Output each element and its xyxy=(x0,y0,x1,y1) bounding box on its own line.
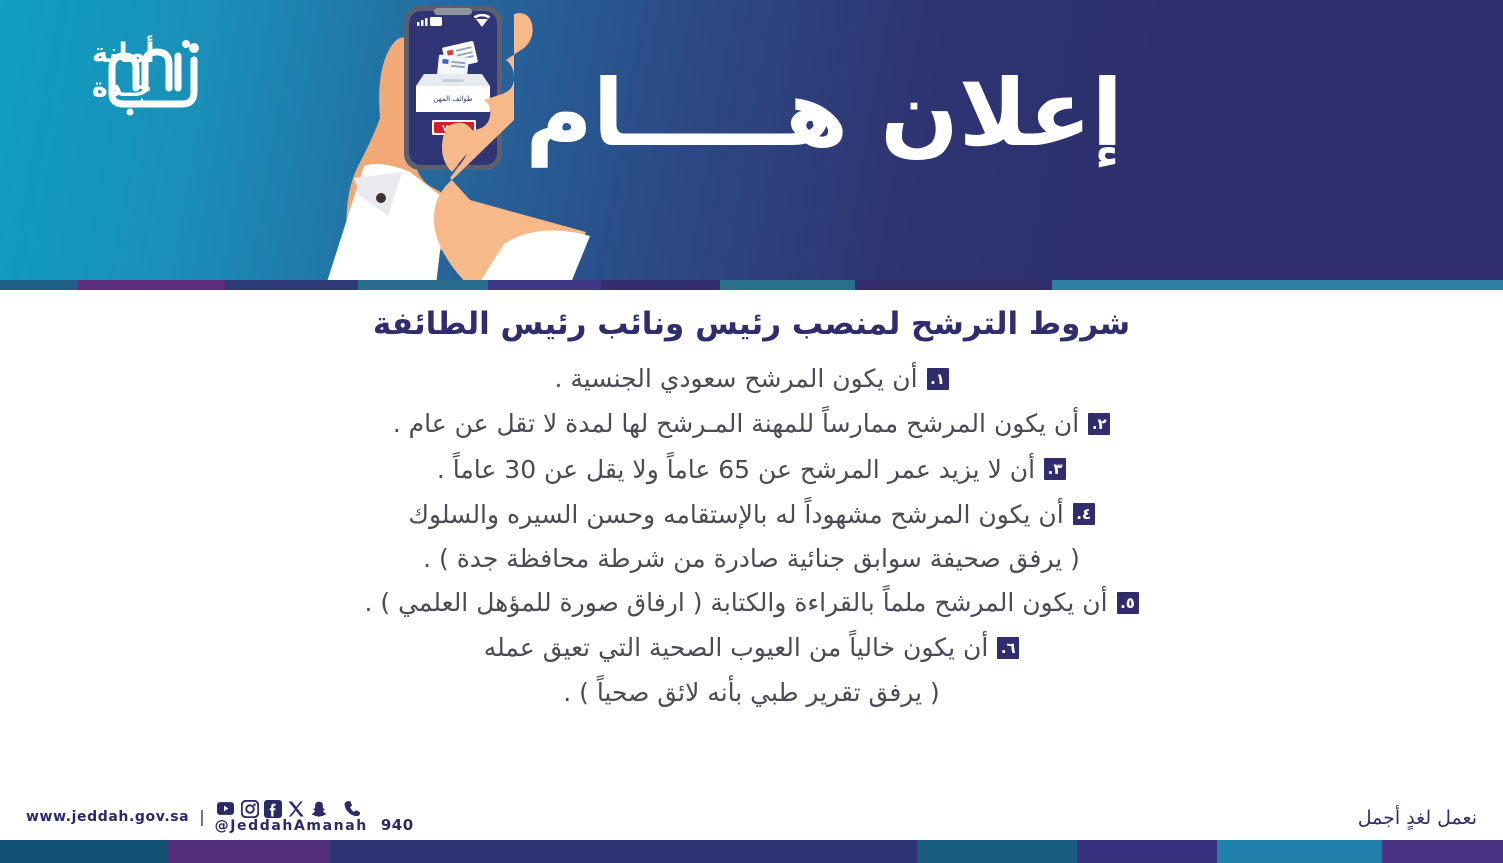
social-media-group: @JeddahAmanah 940 xyxy=(215,799,414,834)
color-strip-segment xyxy=(855,280,1052,290)
color-strip-segment xyxy=(78,280,225,290)
color-strip-segment xyxy=(225,280,358,290)
requirement-text: أن يكون المرشح سعودي الجنسية . xyxy=(554,363,917,394)
color-strip-segment xyxy=(168,840,330,863)
section-title: شروط الترشح لمنصب رئيس ونائب رئيس الطائف… xyxy=(0,306,1503,342)
footer-contact-group: www.jeddah.gov.sa | xyxy=(26,799,414,834)
color-strip-segment xyxy=(1077,840,1217,863)
color-strip-segment xyxy=(330,840,917,863)
social-handle[interactable]: @JeddahAmanah xyxy=(215,818,368,834)
requirement-item: ٣.أن لا يزيد عمر المرشح عن 65 عاماً ولا … xyxy=(0,447,1503,492)
requirement-text: أن يكون المرشح ممارساً للمهنة المـرشح له… xyxy=(393,408,1080,439)
phone-notch xyxy=(434,8,472,15)
color-strip-segment xyxy=(488,280,601,290)
requirement-subtext: ( يرفق تقرير طبي بأنه لائق صحياً ) . xyxy=(0,671,1503,714)
x-twitter-icon[interactable] xyxy=(287,800,305,818)
color-strip-segment xyxy=(0,280,78,290)
logo-label-line2: جـدة xyxy=(92,72,152,103)
requirement-item: ٦.أن يكون خالياً من العيوب الصحية التي ت… xyxy=(0,625,1503,670)
cuff-button xyxy=(376,193,386,203)
facebook-icon[interactable] xyxy=(264,800,282,818)
requirement-number: ٢. xyxy=(1088,413,1110,435)
phone-app-label: طوائف المهن xyxy=(433,95,473,103)
youtube-icon[interactable] xyxy=(215,800,236,817)
requirement-text: أن يكون خالياً من العيوب الصحية التي تعي… xyxy=(484,632,989,663)
requirement-number: ٥. xyxy=(1117,592,1139,614)
decorative-color-strip-top xyxy=(0,280,1503,290)
color-strip-segment xyxy=(601,280,720,290)
decorative-color-strip-bottom xyxy=(0,840,1503,863)
requirement-item: ٢.أن يكون المرشح ممارساً للمهنة المـرشح … xyxy=(0,401,1503,446)
color-strip-segment xyxy=(1382,840,1503,863)
requirement-text: أن يكون المرشح ملماً بالقراءة والكتابة (… xyxy=(364,587,1107,618)
color-strip-segment xyxy=(1052,280,1503,290)
requirements-list: ١.أن يكون المرشح سعودي الجنسية .٢.أن يكو… xyxy=(0,356,1503,714)
requirement-number: ٣. xyxy=(1044,458,1066,480)
instagram-icon[interactable] xyxy=(241,800,259,818)
requirement-item: ١.أن يكون المرشح سعودي الجنسية . xyxy=(0,356,1503,401)
footer-slogan: نعمل لغدٍ أجمل xyxy=(1358,807,1477,829)
requirement-text: أن لا يزيد عمر المرشح عن 65 عاماً ولا يق… xyxy=(437,454,1035,485)
color-strip-segment xyxy=(1217,840,1382,863)
requirement-item: ٤.أن يكون المرشح مشهوداً له بالإستقامه و… xyxy=(0,492,1503,537)
color-strip-segment xyxy=(0,840,168,863)
website-url[interactable]: www.jeddah.gov.sa xyxy=(26,809,189,825)
page-title: إعلان هـــــام xyxy=(525,66,1123,163)
requirement-subtext: ( يرفق صحيفة سوابق جنائية صادرة من شرطة … xyxy=(0,537,1503,580)
announcement-body: شروط الترشح لمنصب رئيس ونائب رئيس الطائف… xyxy=(0,290,1503,795)
logo-label-line1: أمانة xyxy=(92,35,155,69)
color-strip-segment xyxy=(917,840,1077,863)
requirement-number: ١. xyxy=(927,368,949,390)
requirement-text: أن يكون المرشح مشهوداً له بالإستقامه وحس… xyxy=(408,499,1063,530)
color-strip-segment xyxy=(358,280,488,290)
requirement-number: ٦. xyxy=(997,637,1019,659)
snapchat-icon[interactable] xyxy=(310,800,328,818)
footer-separator: | xyxy=(199,807,204,826)
phone-number[interactable]: 940 xyxy=(381,816,414,834)
requirement-number: ٤. xyxy=(1073,503,1095,525)
header-banner: أمانة جـدة xyxy=(0,0,1503,280)
jeddah-municipality-logo: أمانة جـدة xyxy=(14,16,214,116)
requirement-item: ٥.أن يكون المرشح ملماً بالقراءة والكتابة… xyxy=(0,580,1503,625)
color-strip-segment xyxy=(720,280,855,290)
handle-row: @JeddahAmanah 940 xyxy=(215,816,414,834)
footer: www.jeddah.gov.sa | xyxy=(0,795,1503,840)
